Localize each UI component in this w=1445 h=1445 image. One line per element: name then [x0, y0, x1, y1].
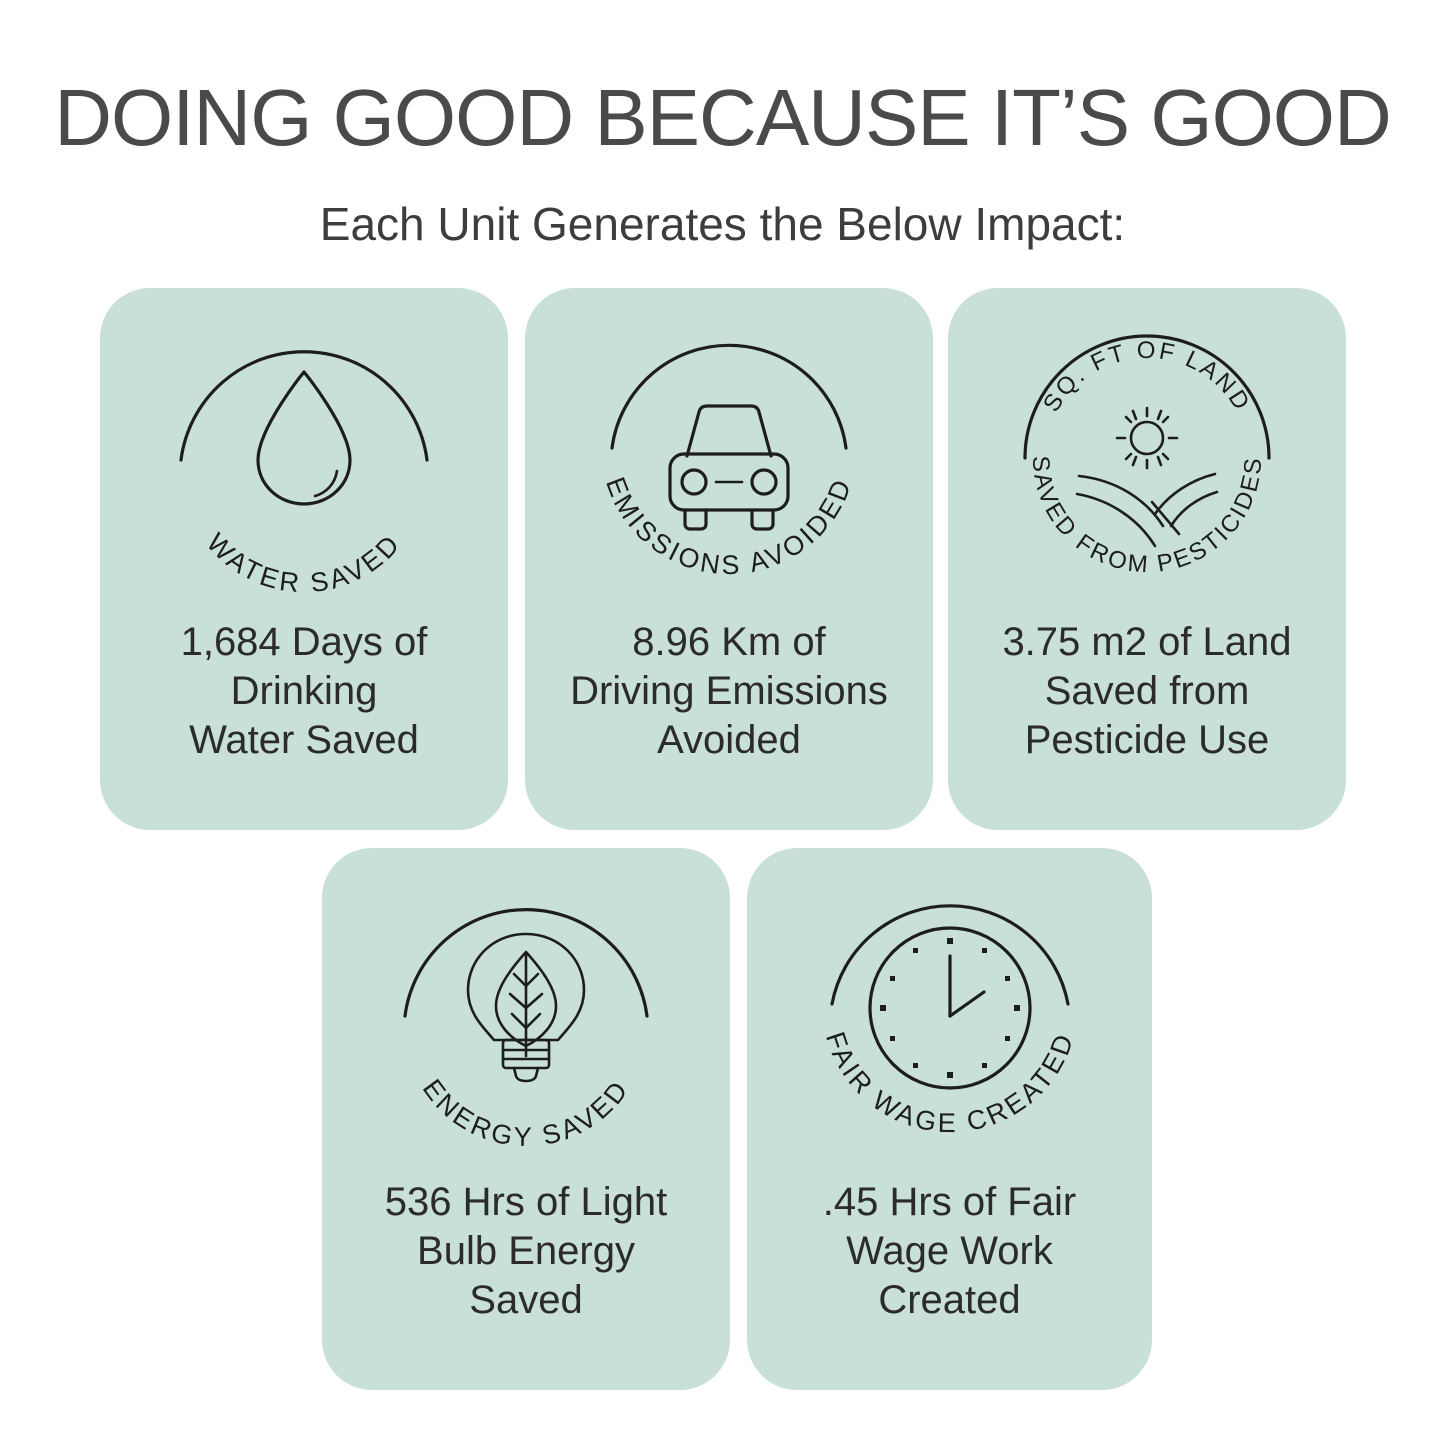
badge-label-emissions-text: EMISSIONS AVOIDED [600, 473, 858, 580]
badge-label-wage: FAIR WAGE CREATED [819, 1028, 1079, 1138]
caption-water-saved: 1,684 Days of Drinking Water Saved [100, 618, 508, 765]
car-icon [670, 406, 788, 529]
clock-icon [870, 928, 1030, 1088]
impact-card-fair-wage-created: FAIR WAGE CREATED .45 Hrs of Fair Wage W… [747, 848, 1152, 1390]
lightbulb-leaf-icon [468, 934, 584, 1081]
badge-label-water-text: WATER SAVED [201, 527, 407, 598]
badge-energy-saved: ENERGY SAVED [376, 868, 676, 1168]
badge-ring-arc [181, 352, 427, 460]
badge-label-land-bottom: SAVED FROM PESTICIDES [1027, 455, 1268, 579]
page-title: DOING GOOD BECAUSE IT’S GOOD [0, 72, 1445, 164]
impact-card-land-saved: SQ. FT OF LAND SAVED FROM PESTICIDES 3.7… [948, 288, 1346, 830]
badge-label-land-top-text: SQ. FT OF LAND [1038, 337, 1256, 417]
badge-emissions-avoided: EMISSIONS AVOIDED [579, 308, 879, 608]
badge-label-land-top: SQ. FT OF LAND [1038, 337, 1256, 417]
impact-card-emissions-avoided: EMISSIONS AVOIDED 8.96 Km of Driving Emi… [525, 288, 933, 830]
page-subtitle: Each Unit Generates the Below Impact: [0, 196, 1445, 252]
badge-water-saved: WATER SAVED [154, 308, 454, 608]
badge-label-water: WATER SAVED [201, 527, 407, 598]
impact-card-water-saved: WATER SAVED 1,684 Days of Drinking Water… [100, 288, 508, 830]
caption-emissions-avoided: 8.96 Km of Driving Emissions Avoided [525, 618, 933, 765]
badge-fair-wage-created: FAIR WAGE CREATED [800, 868, 1100, 1168]
infographic-page: DOING GOOD BECAUSE IT’S GOOD Each Unit G… [0, 0, 1445, 1445]
impact-card-energy-saved: ENERGY SAVED 536 Hrs of Light Bulb Energ… [322, 848, 730, 1390]
caption-land-saved: 3.75 m2 of Land Saved from Pesticide Use [948, 618, 1346, 765]
sun-over-field-icon [1077, 408, 1217, 546]
badge-label-energy: ENERGY SAVED [417, 1074, 636, 1153]
badge-label-emissions: EMISSIONS AVOIDED [600, 473, 858, 580]
water-drop-icon [258, 372, 350, 504]
badge-label-wage-text: FAIR WAGE CREATED [819, 1028, 1079, 1138]
badge-land-saved: SQ. FT OF LAND SAVED FROM PESTICIDES [997, 308, 1297, 608]
badge-label-energy-text: ENERGY SAVED [417, 1074, 636, 1153]
caption-energy-saved: 536 Hrs of Light Bulb Energy Saved [322, 1178, 730, 1325]
caption-fair-wage-created: .45 Hrs of Fair Wage Work Created [747, 1178, 1152, 1325]
badge-ring-arc [612, 345, 846, 448]
badge-label-land-bottom-text: SAVED FROM PESTICIDES [1027, 455, 1268, 579]
